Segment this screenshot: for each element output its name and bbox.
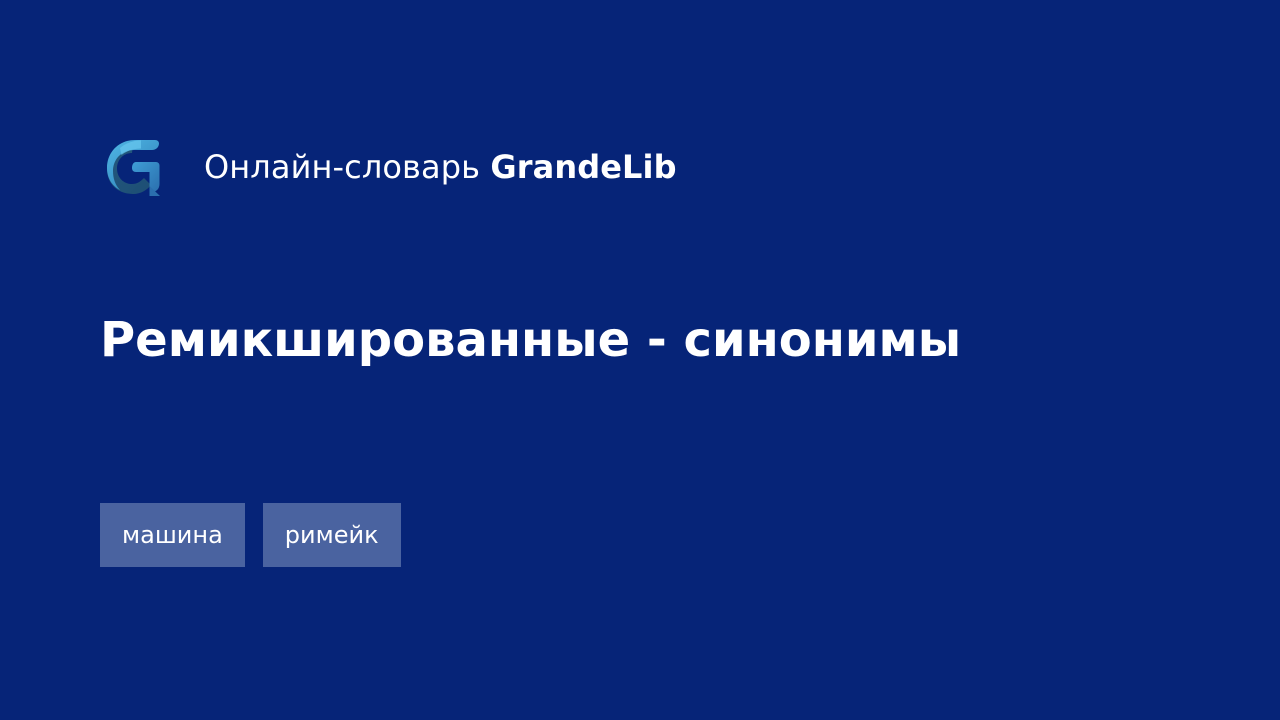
site-brand-prefix: Онлайн-словарь [204, 148, 480, 186]
synonym-tag-list: машина римейк [100, 503, 401, 567]
grandelib-g-logo-icon[interactable] [100, 134, 166, 200]
synonym-tag[interactable]: римейк [263, 503, 401, 567]
site-brand-text: Онлайн-словарь GrandeLib [204, 151, 677, 183]
site-brand-header[interactable]: Онлайн-словарь GrandeLib [100, 132, 677, 202]
site-brand-name: GrandeLib [490, 148, 676, 186]
page-title: Ремикшированные - синонимы [100, 311, 961, 369]
page-root: Онлайн-словарь GrandeLib Ремикшированные… [0, 0, 1280, 720]
synonym-tag[interactable]: машина [100, 503, 245, 567]
